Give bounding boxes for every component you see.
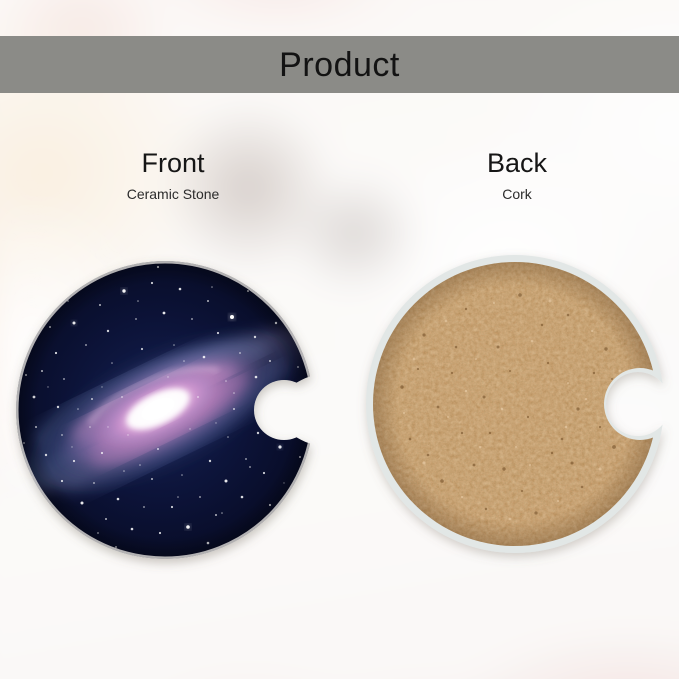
banner-title: Product (279, 48, 400, 82)
back-coaster-cork-surface (372, 261, 658, 547)
front-label-title: Front (63, 148, 283, 179)
front-coaster-svg (12, 257, 318, 563)
back-coaster-cork (362, 251, 668, 557)
back-coaster-svg (362, 251, 668, 557)
front-label-subtitle: Ceramic Stone (63, 185, 283, 203)
back-label-title: Back (407, 148, 627, 179)
back-label-block: Back Cork (407, 148, 627, 203)
product-image-canvas: Product Front Ceramic Stone Back Cork (0, 0, 679, 679)
front-label-block: Front Ceramic Stone (63, 148, 283, 203)
front-coaster-artwork (0, 261, 340, 559)
back-label-subtitle: Cork (407, 185, 627, 203)
product-banner: Product (0, 36, 679, 93)
front-coaster-galaxy (12, 257, 318, 563)
